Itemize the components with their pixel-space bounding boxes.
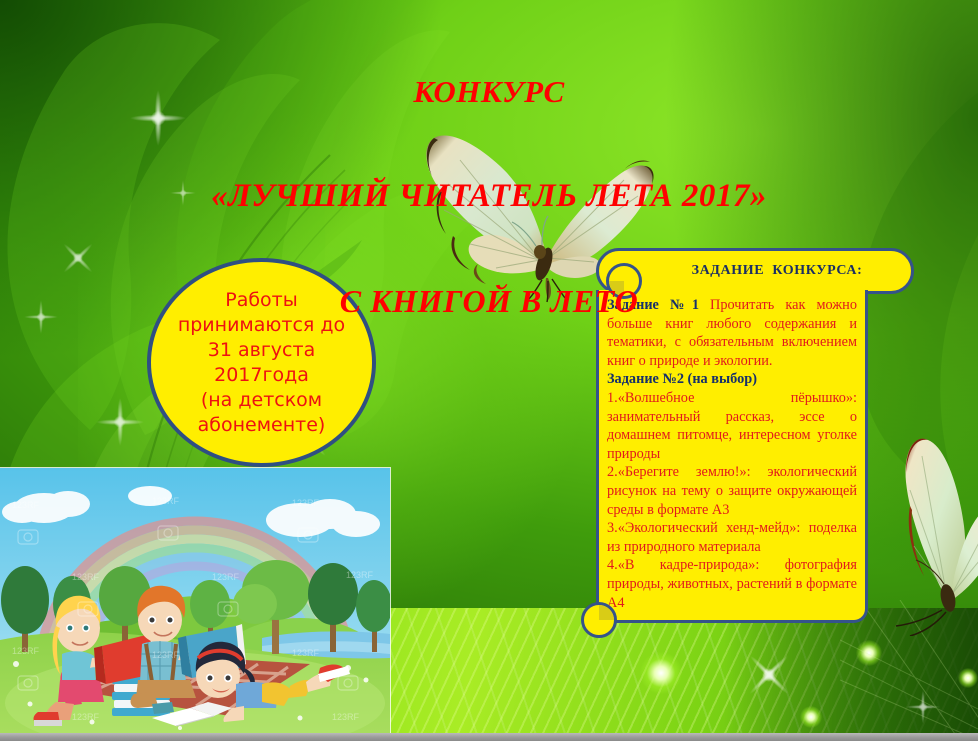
task-2-item: 1.«Волшебное пёрышко»: занимательный рас… — [607, 389, 857, 463]
svg-text:123RF: 123RF — [152, 496, 180, 506]
poster-title: КОНКУРС «ЛУЧШИЙ ЧИТАТЕЛЬ ЛЕТА 2017» С КН… — [0, 4, 978, 389]
scroll-curl-icon — [581, 602, 617, 638]
title-line-3: С КНИГОЙ В ЛЕТО — [0, 284, 978, 319]
svg-text:123RF: 123RF — [12, 646, 40, 656]
svg-text:123RF: 123RF — [12, 500, 40, 510]
svg-text:123RF: 123RF — [332, 712, 360, 722]
task-2-item: 3.«Экологический хенд-мейд»: поделка из … — [607, 519, 857, 556]
svg-text:123RF: 123RF — [152, 650, 180, 660]
svg-text:123RF: 123RF — [72, 712, 100, 722]
poster-canvas: КОНКУРС «ЛУЧШИЙ ЧИТАТЕЛЬ ЛЕТА 2017» С КН… — [0, 0, 978, 741]
svg-text:123RF: 123RF — [292, 648, 320, 658]
svg-text:123RF: 123RF — [212, 572, 240, 582]
bottom-strip — [0, 733, 978, 741]
title-line-2: «ЛУЧШИЙ ЧИТАТЕЛЬ ЛЕТА 2017» — [0, 179, 978, 214]
children-reading-photo: 123RF 123RF 123RF 123RF 123RF 123RF 123R… — [0, 468, 390, 733]
svg-text:123RF: 123RF — [346, 570, 374, 580]
task-2-item: 4.«В кадре-природа»: фотография природы,… — [607, 556, 857, 612]
svg-text:123RF: 123RF — [72, 572, 100, 582]
bottom-band-shade — [724, 608, 978, 733]
task-2-item: 2.«Берегите землю!»: экологический рисун… — [607, 463, 857, 519]
title-line-1: КОНКУРС — [0, 74, 978, 109]
svg-text:123RF: 123RF — [292, 498, 320, 508]
